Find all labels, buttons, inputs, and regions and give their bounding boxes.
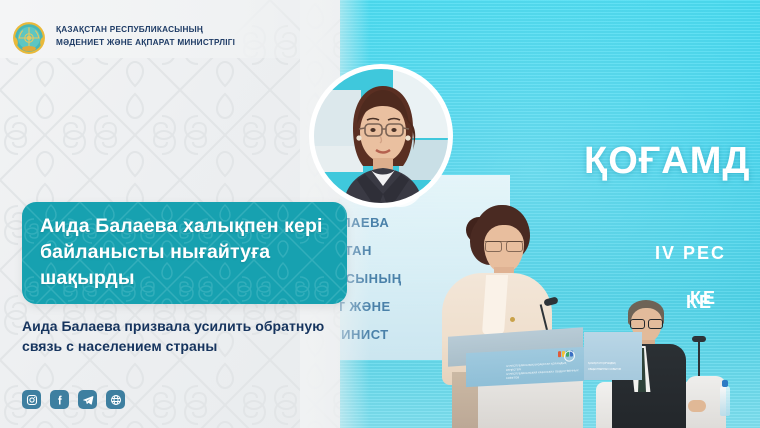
water-bottle bbox=[720, 386, 730, 416]
instagram-icon[interactable] bbox=[22, 390, 41, 409]
screen-subtitle-three: КЕ bbox=[686, 292, 713, 313]
seated-participant: КЕ ҚАЗАҚСТАН ҚОҒАМДЫҚ ОБЩЕСТВЕННЫХ СОВЕТ… bbox=[600, 300, 730, 428]
facebook-icon[interactable] bbox=[50, 390, 69, 409]
podium: IV РЕСПУБЛИКАЛЫҚ ҚАЗАҚСТАН ҚОҒАМДЫҚ КЕҢЕ… bbox=[448, 332, 583, 428]
news-card: ҚОҒАМД IV РЕС КЕ А БАЛАЕВА ЗАҚСТАН ЛИКАС… bbox=[0, 0, 760, 428]
kazakhstan-state-emblem-icon bbox=[12, 21, 46, 55]
water-bottle-cap bbox=[722, 380, 728, 387]
subtitle-text: Аида Балаева призвала усилить обратную с… bbox=[22, 317, 342, 357]
header-line-2: МӘДЕНИЕТ ЖӘНЕ АҚПАРАТ МИНИСТРЛІГІ bbox=[56, 37, 235, 50]
participant-hand bbox=[688, 400, 706, 412]
podium-logo-icon bbox=[564, 350, 575, 362]
podium-front-panel: IV РЕСПУБЛИКАЛЫҚ ҚАЗАҚСТАН ҚОҒАМДЫҚ КЕҢЕ… bbox=[466, 347, 584, 387]
portrait-avatar bbox=[307, 62, 455, 210]
board-text-1: ҚАЗАҚСТАН ҚОҒАМДЫҚ bbox=[588, 362, 616, 366]
screen-title-text: ҚОҒАМД bbox=[584, 140, 750, 183]
screen-subtitle-one: IV РЕС bbox=[655, 243, 726, 264]
board-text-2: ОБЩЕСТВЕННЫХ СОВЕТОВ bbox=[588, 368, 621, 372]
speaker-glasses-icon bbox=[485, 241, 523, 250]
headline-banner: Аида Балаева халықпен кері байланысты ны… bbox=[22, 202, 347, 304]
headline-text: Аида Балаева халықпен кері байланысты ны… bbox=[40, 214, 332, 292]
speaker-lapel-pin-icon bbox=[510, 317, 515, 322]
table-microphone-icon bbox=[692, 336, 706, 342]
social-links bbox=[22, 390, 125, 409]
telegram-icon[interactable] bbox=[78, 390, 97, 409]
participant-glasses-icon bbox=[630, 319, 663, 327]
header-ministry-text: ҚАЗАҚСТАН РЕСПУБЛИКАСЫНЫҢ МӘДЕНИЕТ ЖӘНЕ … bbox=[56, 24, 235, 49]
presentation-board: ҚАЗАҚСТАН ҚОҒАМДЫҚ ОБЩЕСТВЕННЫХ СОВЕТОВ bbox=[584, 332, 642, 380]
speaker-lapel bbox=[482, 275, 508, 335]
header-bar: ҚАЗАҚСТАН РЕСПУБЛИКАСЫНЫҢ МӘДЕНИЕТ ЖӘНЕ … bbox=[0, 0, 760, 58]
header-line-1: ҚАЗАҚСТАН РЕСПУБЛИКАСЫНЫҢ bbox=[56, 24, 235, 37]
website-globe-icon[interactable] bbox=[106, 390, 125, 409]
